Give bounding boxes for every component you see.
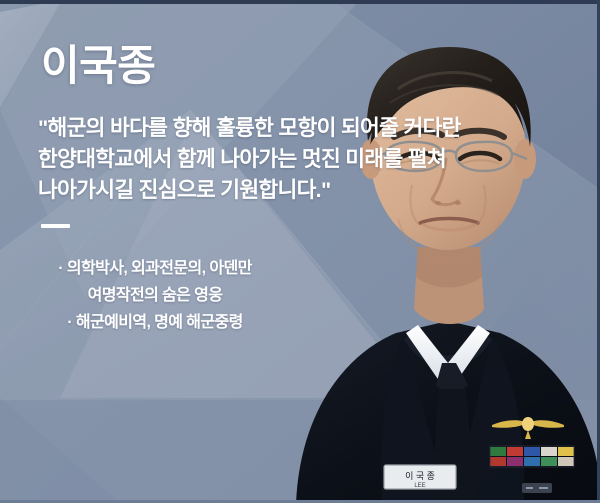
quote-line-3: 나아가시길 진심으로 기원합니다." — [38, 175, 538, 206]
svg-text:LEE: LEE — [414, 483, 425, 489]
divider-rule — [41, 224, 70, 228]
credential-line-3: · 해군예비역, 명예 해군중령 — [0, 309, 310, 336]
uniform-nametag: 이 국 종 LEE — [384, 465, 456, 489]
breast-badge — [522, 483, 552, 493]
top-edge-rule — [0, 0, 600, 4]
credential-line-2: 여명작전의 숨은 영웅 — [0, 282, 310, 309]
portrait-photo: 이 국 종 LEE — [286, 33, 600, 503]
credential-line-1: · 의학박사, 외과전문의, 아덴만 — [0, 255, 310, 282]
quote-line-2: 한양대학교에서 함께 나아가는 멋진 미래를 펼쳐 — [38, 144, 538, 175]
svg-text:이 국 종: 이 국 종 — [405, 471, 435, 481]
person-name: 이국종 — [41, 44, 155, 88]
credentials-list: · 의학박사, 외과전문의, 아덴만 여명작전의 숨은 영웅 · 해군예비역, … — [0, 255, 310, 336]
quote-line-1: "해군의 바다를 향해 훌륭한 모항이 되어줄 커다란 — [38, 113, 538, 144]
profile-banner: 이 국 종 LEE — [0, 0, 600, 503]
quote-text: "해군의 바다를 향해 훌륭한 모항이 되어줄 커다란 한양대학교에서 함께 나… — [38, 113, 538, 206]
